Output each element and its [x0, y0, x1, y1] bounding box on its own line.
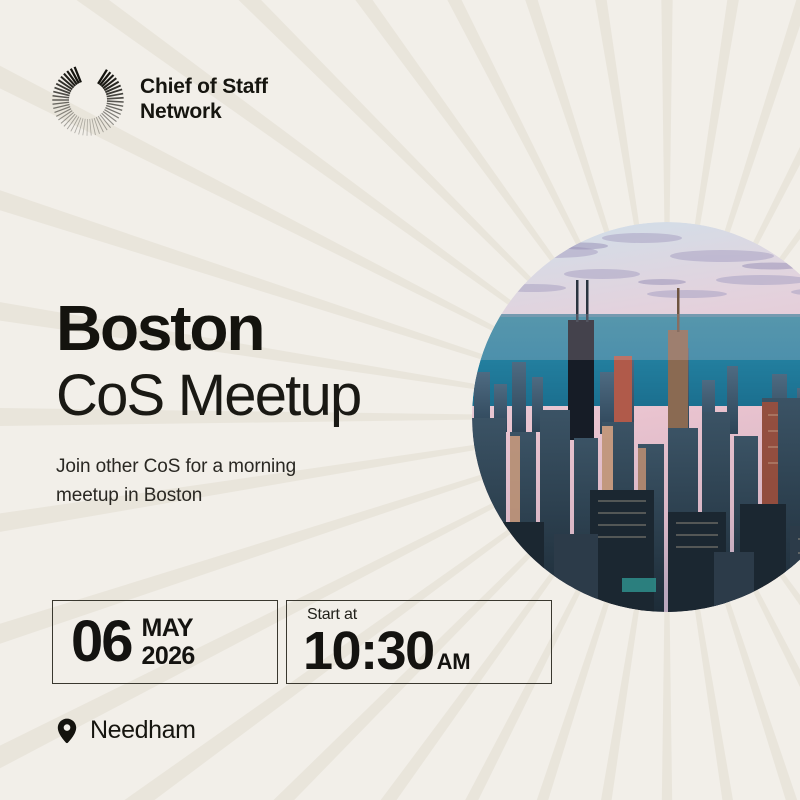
date-year: 2026	[142, 644, 195, 669]
date-box[interactable]: 06 MAY 2026	[52, 600, 278, 684]
start-time-meridiem: AM	[437, 649, 471, 675]
location-name: Needham	[90, 716, 196, 745]
time-row: 10:30 AM	[303, 624, 537, 678]
page-title-city: Boston	[56, 296, 456, 360]
date-month-year: MAY 2026	[142, 616, 195, 669]
time-box[interactable]: Start at 10:30 AM	[286, 600, 552, 684]
event-location[interactable]: Needham	[56, 716, 196, 745]
map-pin-icon	[56, 718, 78, 744]
event-poster: Chief of Staff Network Boston CoS Meetup…	[0, 0, 800, 800]
date-month: MAY	[142, 616, 195, 641]
brand-name: Chief of Staff Network	[140, 75, 268, 125]
brand-logo: Chief of Staff Network	[50, 62, 268, 138]
date-day: 06	[71, 613, 132, 671]
headline-block: Boston CoS Meetup Join other CoS for a m…	[56, 296, 456, 511]
event-subtitle: Join other CoS for a morning meetup in B…	[56, 453, 456, 511]
event-details-boxes: 06 MAY 2026 Start at 10:30 AM	[52, 600, 552, 684]
page-title-event: CoS Meetup	[56, 364, 456, 429]
radial-sunburst-c-logo-icon	[50, 62, 126, 138]
city-skyline-photo	[472, 222, 800, 612]
start-time: 10:30	[303, 624, 434, 678]
